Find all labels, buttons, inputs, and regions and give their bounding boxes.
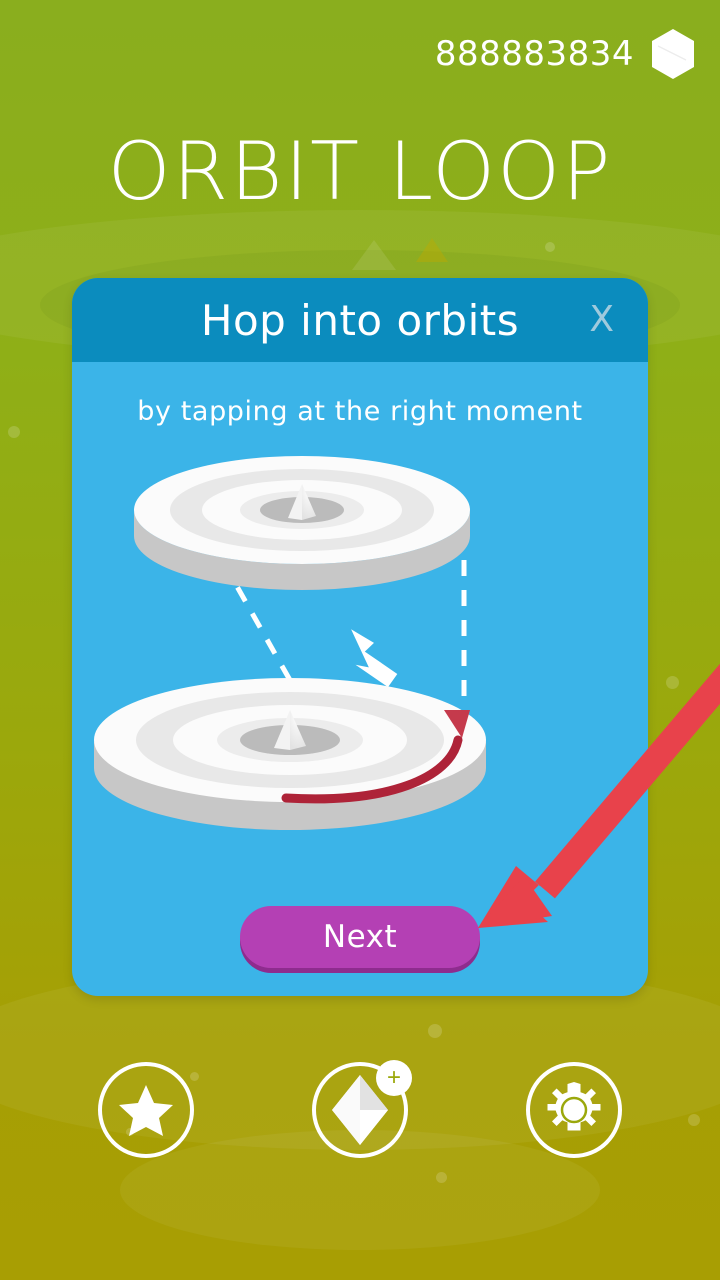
top-bar: 888883834 [435, 28, 696, 80]
bg-particle [8, 426, 20, 438]
settings-button[interactable] [526, 1062, 622, 1158]
dialog-header: Hop into orbits X [72, 278, 648, 362]
orbit-disc-upper [134, 456, 470, 590]
star-button[interactable] [98, 1062, 194, 1158]
tutorial-illustration [72, 448, 648, 868]
bg-particle [666, 676, 679, 689]
bg-particle [436, 1172, 447, 1183]
bottom-nav: + [0, 1062, 720, 1158]
gear-icon [543, 1079, 605, 1141]
hexagon-gem-icon [650, 28, 696, 80]
bg-particle [428, 1024, 442, 1038]
gem-counter: 888883834 [435, 34, 634, 74]
gems-button[interactable]: + [312, 1062, 408, 1158]
bg-triangle-2 [416, 238, 448, 262]
dialog-subtitle: by tapping at the right moment [72, 396, 648, 427]
bg-triangle-1 [352, 240, 396, 270]
game-screen: 888883834 ORBIT LOOP Hop into orbits X b… [0, 0, 720, 1280]
tutorial-dialog: Hop into orbits X by tapping at the righ… [72, 278, 648, 996]
bg-particle [545, 242, 555, 252]
next-button[interactable]: Next [240, 906, 480, 968]
add-gems-badge[interactable]: + [376, 1060, 412, 1096]
star-icon [118, 1082, 174, 1138]
orbit-disc-lower [94, 678, 486, 830]
dialog-title: Hop into orbits [201, 296, 519, 345]
close-icon[interactable]: X [579, 296, 624, 344]
game-title: ORBIT LOOP [0, 132, 720, 212]
